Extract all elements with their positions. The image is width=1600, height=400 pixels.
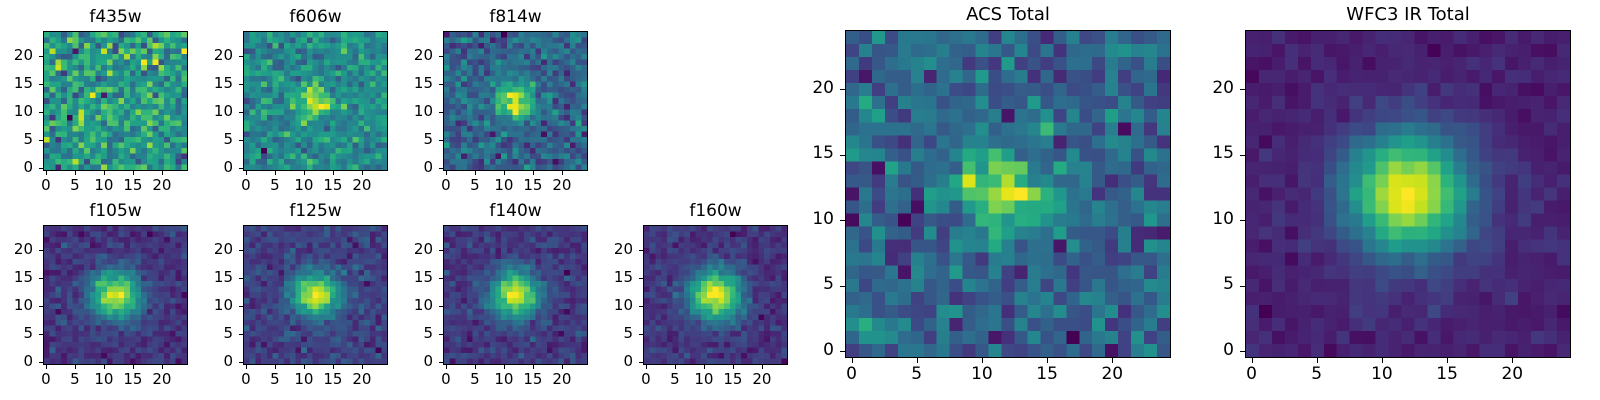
y-tickmark-wfc3_total-10	[1240, 220, 1245, 221]
y-tick-label-wfc3_total-0: 0	[1174, 342, 1234, 359]
y-tick-label-wfc3_total-15: 15	[1174, 145, 1234, 162]
x-tick-label-wfc3_total-15: 15	[1417, 366, 1477, 383]
heatmap-image-wfc3_total	[1246, 31, 1570, 357]
x-tick-label-wfc3_total-0: 0	[1222, 366, 1282, 383]
y-tick-label-wfc3_total-20: 20	[1174, 80, 1234, 97]
panel-title-wfc3_total: WFC3 IR Total	[1245, 6, 1571, 24]
panel-wfc3_total: WFC3 IR Total0510152005101520	[0, 0, 1600, 400]
y-tickmark-wfc3_total-5	[1240, 286, 1245, 287]
y-tick-label-wfc3_total-10: 10	[1174, 211, 1234, 228]
x-tickmark-wfc3_total-15	[1447, 358, 1448, 363]
x-tickmark-wfc3_total-0	[1252, 358, 1253, 363]
x-tick-label-wfc3_total-5: 5	[1287, 366, 1347, 383]
y-tick-label-wfc3_total-5: 5	[1174, 276, 1234, 293]
y-tickmark-wfc3_total-20	[1240, 89, 1245, 90]
x-tick-label-wfc3_total-20: 20	[1482, 366, 1542, 383]
x-tick-label-wfc3_total-10: 10	[1352, 366, 1412, 383]
figure-canvas: f435w0510152005101520f606w05101520051015…	[0, 0, 1600, 400]
y-tickmark-wfc3_total-0	[1240, 351, 1245, 352]
x-tickmark-wfc3_total-5	[1317, 358, 1318, 363]
y-tickmark-wfc3_total-15	[1240, 155, 1245, 156]
x-tickmark-wfc3_total-10	[1382, 358, 1383, 363]
image-axes-wfc3_total	[1245, 30, 1571, 358]
x-tickmark-wfc3_total-20	[1512, 358, 1513, 363]
